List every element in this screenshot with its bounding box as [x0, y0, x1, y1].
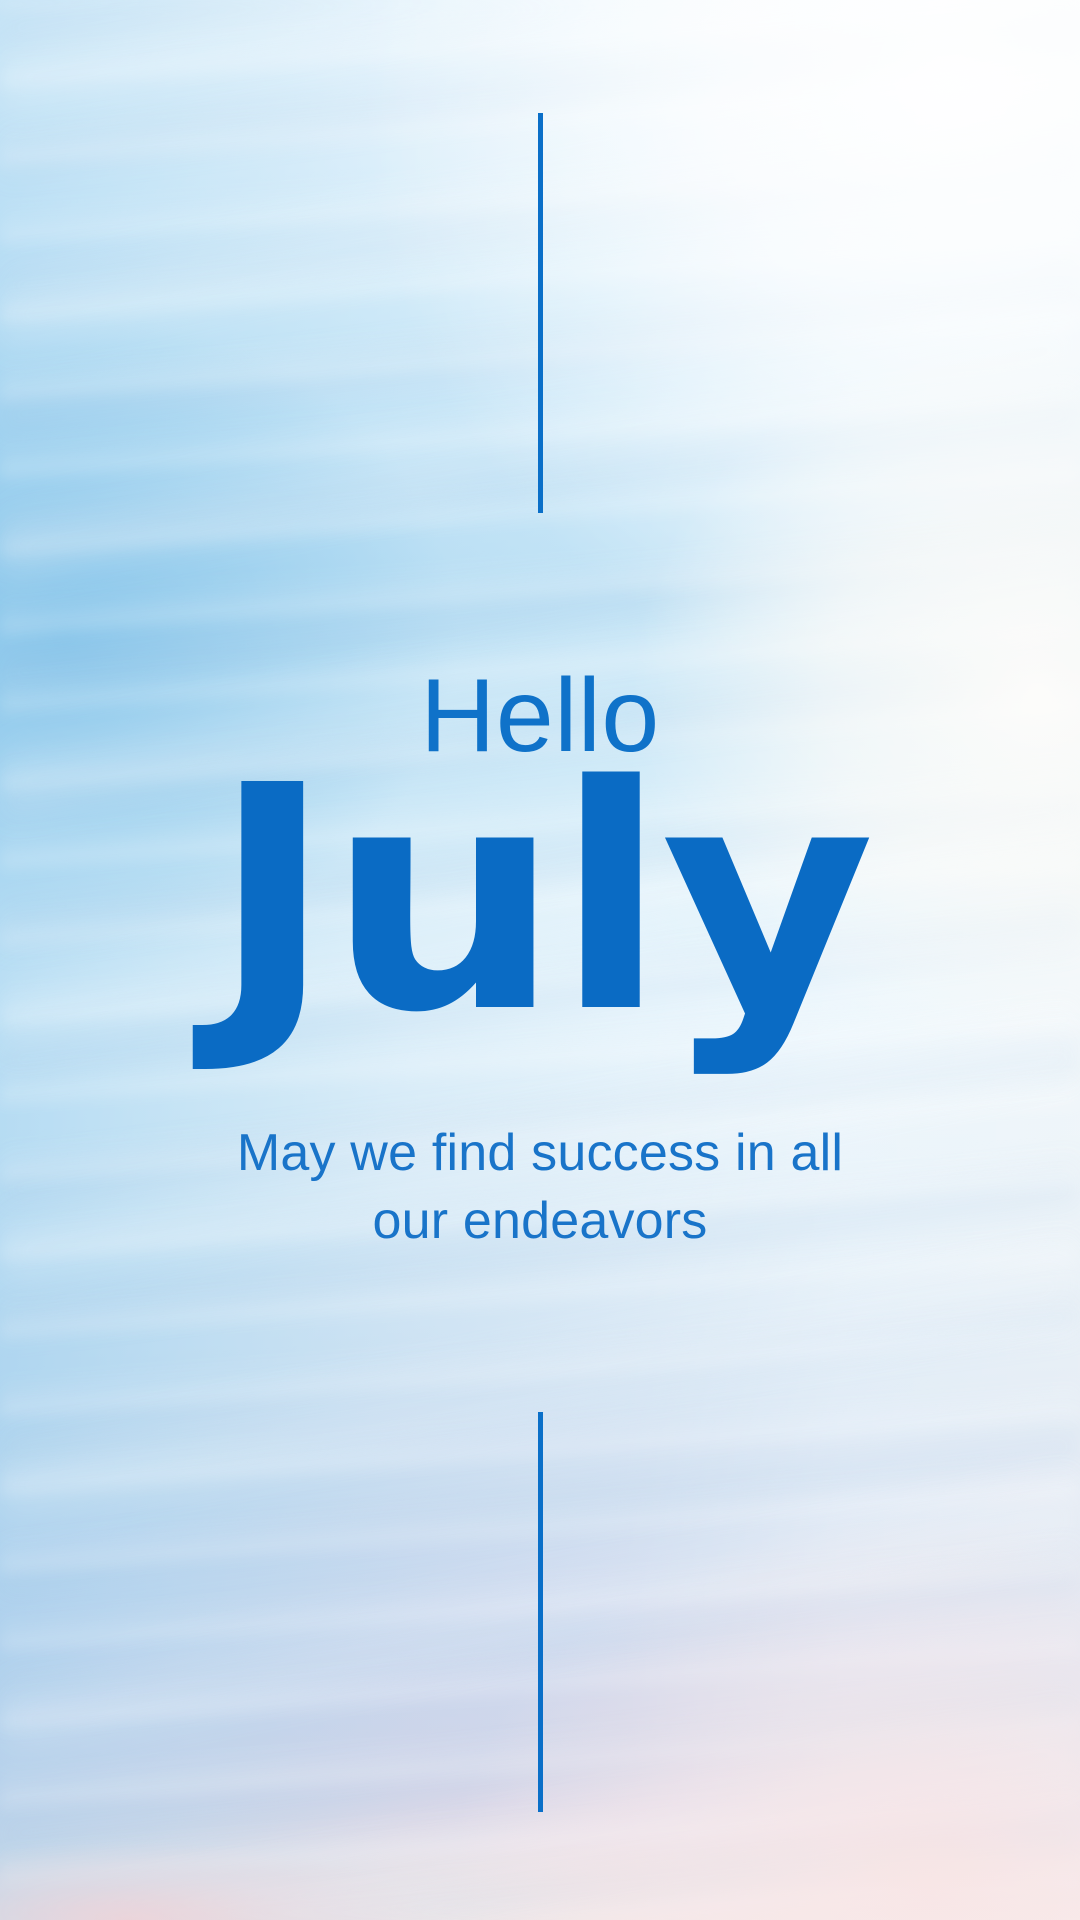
- poster-canvas: Hello July May we find success in all ou…: [0, 0, 1080, 1920]
- decorative-vertical-rule-top: [538, 113, 543, 513]
- poster-content: Hello July May we find success in all ou…: [0, 0, 1080, 1920]
- decorative-vertical-rule-bottom: [538, 1412, 543, 1812]
- month-title: July: [0, 746, 1080, 1056]
- tagline-text: May we find success in all our endeavors: [0, 1120, 1080, 1255]
